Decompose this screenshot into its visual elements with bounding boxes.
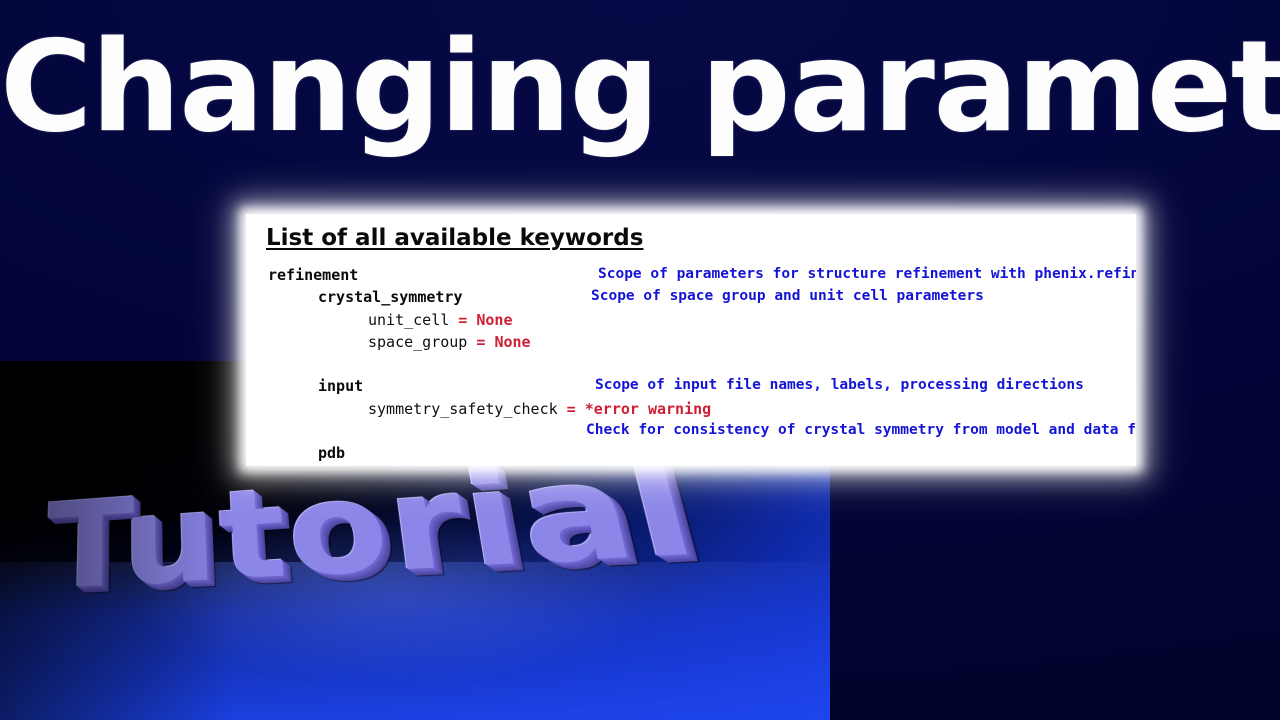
keyword-parameter: unit_cell = None — [368, 311, 513, 329]
keyword-doc-text: Scope of input file names, labels, proce… — [595, 377, 1084, 393]
keyword-scope-name: input — [318, 377, 363, 395]
tutorial-word: Tutorial — [44, 455, 744, 635]
parameter-value: *error warning — [585, 400, 711, 418]
parameter-equals: = — [467, 333, 494, 351]
parameter-equals: = — [449, 311, 476, 329]
keyword-doc-text: Scope of parameters for structure refine… — [598, 266, 1136, 282]
parameter-name: symmetry_safety_check — [368, 400, 558, 418]
keyword-row: crystal_symmetryScope of space group and… — [246, 288, 1136, 310]
keyword-code-block: refinementScope of parameters for struct… — [246, 266, 1136, 466]
slide-root: Changing parameters Tutorial Tutorial Li… — [0, 0, 1280, 720]
keyword-doc-text: Check for consistency of crystal symmetr… — [586, 422, 1136, 438]
keyword-scope-name: pdb — [318, 444, 345, 462]
parameter-name: space_group — [368, 333, 467, 351]
parameter-value: None — [494, 333, 530, 351]
keyword-row: pdb — [246, 444, 1136, 466]
keyword-row: space_group = None — [246, 333, 1136, 355]
keyword-scope-name: refinement — [268, 266, 358, 284]
keyword-row: symmetry_safety_check = *error warning — [246, 400, 1136, 422]
keyword-parameter: symmetry_safety_check = *error warning — [368, 400, 711, 418]
keyword-listing-panel: List of all available keywords refinemen… — [246, 214, 1136, 466]
keyword-row — [246, 355, 1136, 377]
parameter-name: unit_cell — [368, 311, 449, 329]
keyword-scope-name: crystal_symmetry — [318, 288, 463, 306]
panel-heading: List of all available keywords — [266, 225, 643, 251]
keyword-parameter: space_group = None — [368, 333, 531, 351]
parameter-value: None — [476, 311, 512, 329]
parameter-equals: = — [558, 400, 585, 418]
keyword-row: unit_cell = None — [246, 311, 1136, 333]
keyword-row: inputScope of input file names, labels, … — [246, 377, 1136, 399]
keyword-row: refinementScope of parameters for struct… — [246, 266, 1136, 288]
keyword-doc-text: Scope of space group and unit cell param… — [591, 288, 984, 304]
keyword-row: Check for consistency of crystal symmetr… — [246, 422, 1136, 444]
page-title: Changing parameters — [0, 24, 1280, 150]
